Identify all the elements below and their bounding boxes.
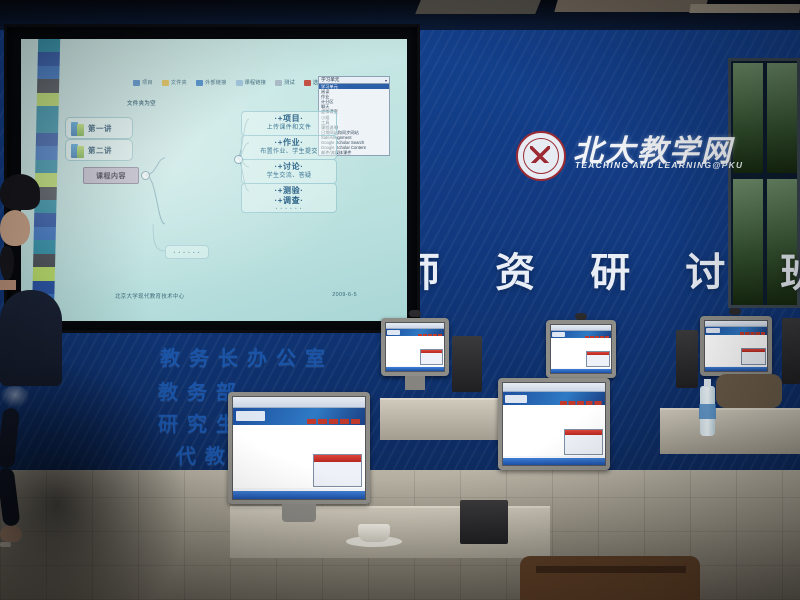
toolbar-item-label: 项目 (142, 79, 153, 86)
folder-icon (162, 80, 169, 86)
stripe-block (38, 39, 60, 52)
bottle-label (699, 404, 716, 419)
toolbar-item-3[interactable]: 外部链接 (196, 79, 227, 86)
window-pane-top (733, 63, 763, 173)
course-link-icon (236, 80, 243, 86)
presenter-hands (0, 526, 22, 542)
slide-footer-organization: 北京大学现代教育技术中心 (115, 292, 185, 300)
toolbar-item-1[interactable]: 项目 (133, 79, 153, 86)
toolbar-item-label: 文件夹 (171, 79, 187, 86)
taskbar[interactable] (551, 369, 611, 373)
presenter (0, 174, 62, 547)
site-banner (386, 329, 444, 337)
ceiling-beam-right (554, 0, 707, 12)
stripe-block (37, 66, 59, 79)
chair-slat (536, 566, 686, 573)
mindmap-branch-2: ·+作业· 布置作业、学生提交 (241, 135, 337, 160)
mindmap-lesson-2: 第二讲 (65, 139, 133, 161)
branch-4-title: ·+测验· (242, 186, 336, 196)
mindmap: 课程内容 第一讲 第二讲 • • • • • • ·+项目· 上传课件 (65, 117, 407, 267)
site-banner (503, 392, 605, 405)
ceiling-pipe (689, 4, 800, 13)
webcam-icon (409, 310, 421, 317)
branch-1-title: ·+项目· (242, 114, 336, 124)
dropdown-header[interactable]: 学习单元 ▾ (318, 76, 390, 84)
bag (716, 374, 782, 408)
banner-headline: 师 资 研 讨 班 (400, 240, 730, 298)
popup-dialog[interactable] (741, 348, 765, 365)
popup-dialog[interactable] (313, 454, 363, 487)
branch-2-title: ·+作业· (242, 138, 336, 148)
classroom-scene: 北大教学网 TEACHING AND LEARNING@PKU 师 资 研 讨 … (0, 0, 800, 600)
monitor-front-right[interactable] (498, 378, 610, 470)
stripe-block (36, 106, 58, 119)
stripe-block (36, 133, 58, 146)
banner-brand-en: TEACHING AND LEARNING@PKU (575, 160, 743, 170)
blackboard-toolbar[interactable]: 项目文件夹外部链接课程链接测试选集 (133, 79, 324, 86)
toolbar-item-label: 课程链接 (245, 79, 267, 86)
mindmap-lesson-1: 第一讲 (65, 117, 133, 139)
monitor-mid-right-screen (704, 320, 768, 372)
monitor-mid-left[interactable] (381, 318, 449, 376)
monitor-front-left-stand (282, 504, 316, 522)
popup-dialog[interactable] (564, 429, 603, 456)
taskbar[interactable] (503, 458, 605, 465)
stripe-block (37, 93, 59, 106)
mindmap-lesson-2-label: 第二讲 (88, 145, 112, 156)
presenter-body (0, 290, 62, 386)
branch-1-subtitle: 上传课件和文件 (242, 124, 336, 132)
monitor-front-right-screen (502, 382, 606, 466)
pku-seal-icon (516, 131, 566, 181)
branch-3-title: ·+讨论· (242, 162, 336, 172)
taskbar[interactable] (233, 491, 365, 499)
toolbar-item-5[interactable]: 测试 (275, 79, 295, 86)
branch-2-subtitle: 布置作业、学生提交 (242, 148, 336, 156)
browser-titlebar (503, 383, 605, 392)
monitor-mid-left-screen (385, 322, 445, 372)
taskbar[interactable] (705, 367, 767, 371)
presenter-watch (0, 542, 11, 547)
item-icon (133, 80, 140, 86)
ceiling-beam-left (415, 0, 541, 14)
popup-dialog[interactable] (586, 351, 610, 367)
branch-dots: • • • • • • (242, 206, 336, 211)
mindmap-branch-4: ·+测验· ·+调查· • • • • • • (241, 183, 337, 213)
wall-office-line-1: 教务长办公室 (160, 342, 334, 371)
mindmap-placeholder-node: • • • • • • (165, 245, 209, 259)
monitor-mid-right[interactable] (700, 316, 772, 376)
branch-5-title: ·+调查· (242, 196, 336, 206)
monitor-mid-left-stand (405, 376, 425, 390)
slide-footer-date: 2009-6-5 (332, 292, 357, 300)
pc-tower-right (676, 330, 698, 388)
chair-back (520, 556, 700, 600)
mindmap-root-node: 课程内容 (83, 167, 139, 184)
browser-titlebar (233, 397, 365, 408)
desk-right (660, 408, 800, 454)
popup-dialog[interactable] (420, 349, 443, 365)
monitor-mid-center[interactable] (546, 320, 616, 378)
presenter-arm-right (0, 467, 20, 527)
folder-empty-label: 文件夹为空 (127, 99, 156, 107)
taskbar[interactable] (386, 367, 444, 371)
mindmap-lesson-1-label: 第一讲 (88, 123, 112, 134)
presenter-arm-left (0, 407, 20, 468)
presenter-collar-detail (0, 386, 30, 408)
test-icon (275, 80, 282, 86)
toolbar-item-label: 外部链接 (205, 79, 227, 86)
stripe-block (37, 79, 59, 92)
branch-3-subtitle: 学生交流、答疑 (242, 172, 336, 180)
pc-tower-far-right (782, 318, 800, 384)
presenter-neck (0, 280, 16, 290)
presenter-head (0, 210, 30, 246)
window-pane-top2 (767, 63, 797, 173)
options-icon (304, 80, 311, 86)
mindmap-root-hub[interactable] (141, 171, 150, 180)
slide-content: 项目文件夹外部链接课程链接测试选集 文件夹为空 学习单元 ▾ 学习单元阅读作业计… (65, 39, 407, 321)
pc-tower-mid (452, 336, 482, 392)
monitor-mid-center-screen (550, 324, 612, 374)
mindmap-branch-3: ·+讨论· 学生交流、答疑 (241, 159, 337, 184)
mindmap-branch-1: ·+项目· 上传课件和文件 (241, 111, 337, 136)
toolbar-item-2[interactable]: 文件夹 (162, 79, 187, 86)
wall-office-line-4: 代教 (176, 440, 234, 469)
webcam-icon (575, 313, 587, 320)
webcam-icon (729, 308, 741, 315)
stripe-block (35, 160, 57, 173)
toolbar-item-4[interactable]: 课程链接 (236, 79, 267, 86)
stripe-block (35, 146, 57, 159)
book-stack-icon (71, 121, 85, 136)
slide-footer: 北京大学现代教育技术中心 2009-6-5 (65, 292, 407, 300)
presenter-ponytail (0, 246, 14, 280)
cup (358, 524, 390, 542)
monitor-front-left-screen (232, 396, 366, 500)
stripe-block (36, 120, 58, 133)
site-banner (551, 331, 611, 339)
link-icon (196, 80, 203, 86)
chevron-down-icon: ▾ (385, 78, 387, 83)
toolbar-item-label: 测试 (284, 79, 295, 86)
presenter-hair (0, 174, 40, 210)
site-banner (705, 327, 767, 335)
dropdown-selected-label: 学习单元 (321, 77, 339, 83)
monitor-front-left[interactable] (228, 392, 370, 504)
stripe-block (38, 52, 60, 65)
projection-screen: 项目文件夹外部链接课程链接测试选集 文件夹为空 学习单元 ▾ 学习单元阅读作业计… (21, 39, 407, 321)
site-banner (233, 408, 365, 424)
book-stack-icon (71, 143, 85, 158)
pc-tower-front (460, 500, 508, 544)
projection-screen-frame: 项目文件夹外部链接课程链接测试选集 文件夹为空 学习单元 ▾ 学习单元阅读作业计… (4, 24, 420, 333)
